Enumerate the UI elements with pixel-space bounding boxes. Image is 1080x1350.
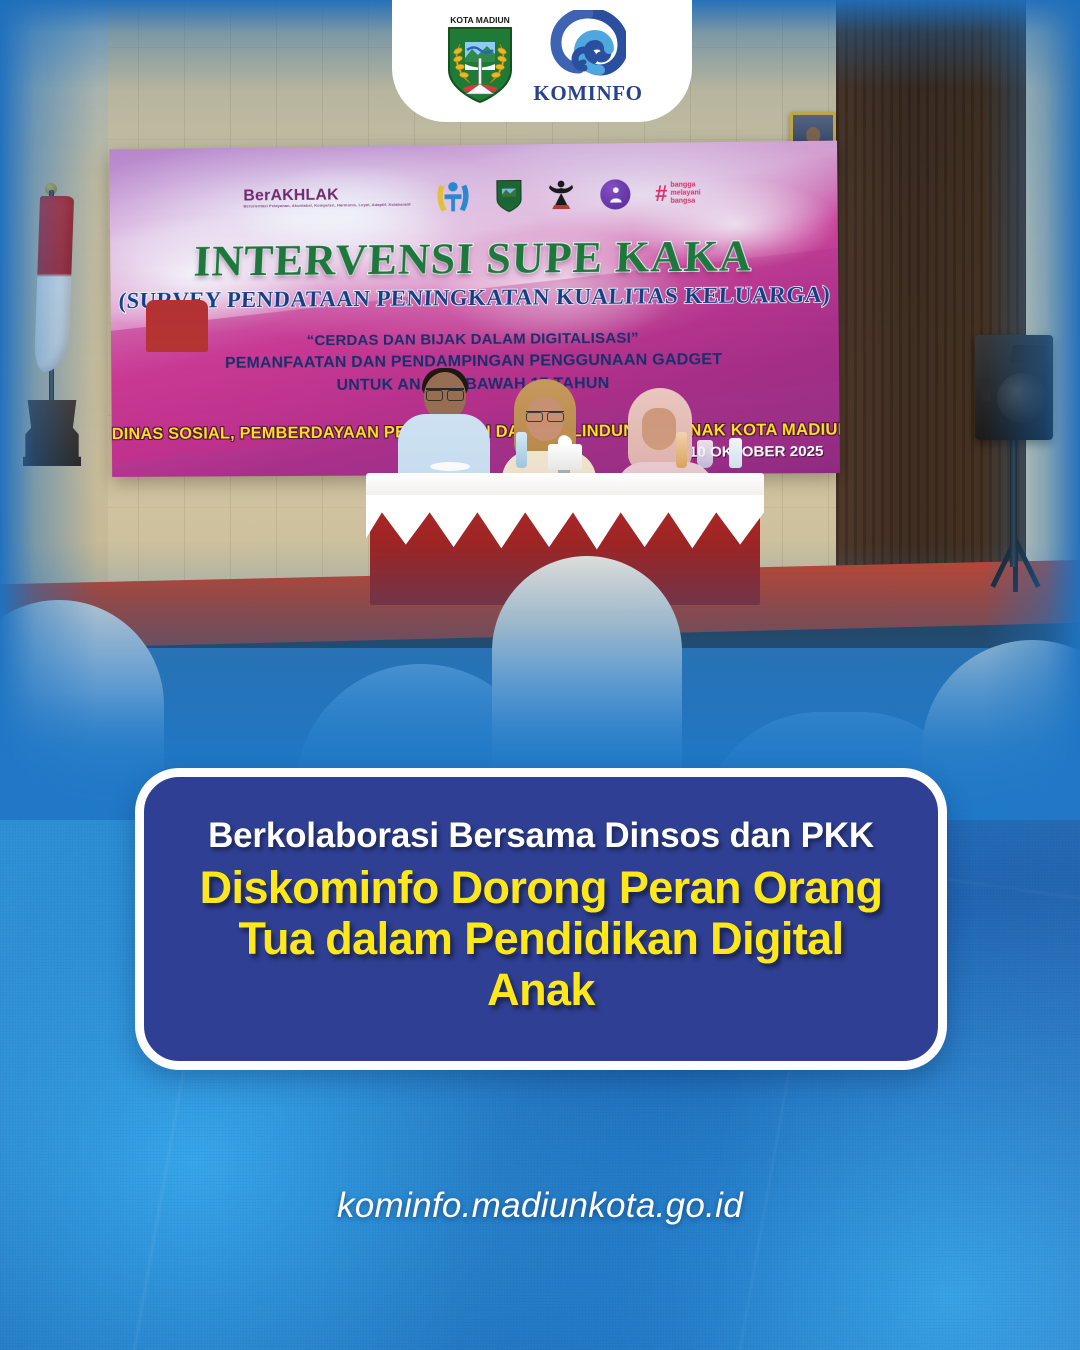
kota-madiun-shield-logo: [496, 175, 522, 215]
speaker-woofer: [997, 373, 1047, 423]
child-protection-icon: [606, 185, 625, 204]
perlindungan-anak-logo: [601, 179, 631, 209]
madiun-dancer-icon: [546, 178, 576, 212]
tissue-box: [548, 444, 582, 470]
kota-madiun-crest-icon: KOTA MADIUN: [441, 14, 519, 106]
flag-stand: [23, 400, 81, 466]
headline-title: Diskominfo Dorong Peran Orang Tua dalam …: [200, 862, 883, 1016]
beverage-bottle: [676, 432, 687, 468]
kominfo-wordmark: KOMINFO: [533, 81, 642, 106]
bangga-logo-text: banggamelayanibangsa: [670, 181, 700, 206]
water-bottle: [516, 432, 527, 468]
event-photo-scene: BerAKHLAK Berorientasi Pelayanan, Akunta…: [0, 0, 1080, 820]
speaker-stand-pole: [1010, 437, 1017, 567]
poster-canvas: BerAKHLAK Berorientasi Pelayanan, Akunta…: [0, 0, 1080, 1350]
wall-right-panel: [1026, 0, 1080, 600]
kota-madiun-shield-icon: [496, 178, 522, 212]
table-plate: [430, 462, 470, 471]
panelist-face: [642, 408, 676, 450]
puspaga-people-icon: [434, 179, 472, 213]
pa-speaker-cabinet: [975, 335, 1053, 440]
berakhlak-logo: BerAKHLAK Berorientasi Pelayanan, Akunta…: [243, 177, 410, 219]
eyeglasses-icon: [526, 411, 564, 419]
madiun-dancer-logo: [546, 175, 576, 215]
headline-kicker: Berkolaborasi Bersama Dinsos dan PKK: [208, 816, 874, 855]
eyeglasses-icon: [426, 388, 464, 397]
website-url[interactable]: kominfo.madiunkota.go.id: [0, 1186, 1080, 1226]
bangga-hash-icon: #: [655, 183, 668, 205]
headline-title-line: Diskominfo Dorong Peran Orang: [200, 862, 883, 913]
kominfo-wave-icon: [550, 10, 626, 80]
header-logo-plate: KOTA MADIUN: [392, 0, 692, 122]
panel-chair: [146, 300, 208, 352]
berakhlak-logo-tagline: Berorientasi Pelayanan, Akuntabel, Kompe…: [243, 203, 410, 209]
headline-title-line: Anak: [200, 964, 883, 1015]
speaker-port: [981, 379, 991, 401]
drinking-glass: [697, 440, 713, 468]
banner-logo-row: BerAKHLAK Berorientasi Pelayanan, Akunta…: [110, 169, 838, 223]
headline-title-line: Tua dalam Pendidikan Digital: [200, 913, 883, 964]
svg-text:KOTA MADIUN: KOTA MADIUN: [451, 15, 511, 25]
kominfo-lockup: KOMINFO: [533, 10, 642, 106]
event-photo: BerAKHLAK Berorientasi Pelayanan, Akunta…: [0, 0, 1080, 820]
headline-card: Berkolaborasi Bersama Dinsos dan PKK Dis…: [135, 768, 947, 1070]
banner-title: INTERVENSI SUPE KAKA: [109, 229, 839, 287]
dark-curtain: [836, 0, 1026, 600]
speaker-horn: [1009, 345, 1047, 363]
water-bottle: [729, 438, 742, 468]
bangga-melayani-bangsa-logo: # banggamelayanibangsa: [655, 173, 701, 214]
puspaga-logo: [434, 176, 472, 216]
